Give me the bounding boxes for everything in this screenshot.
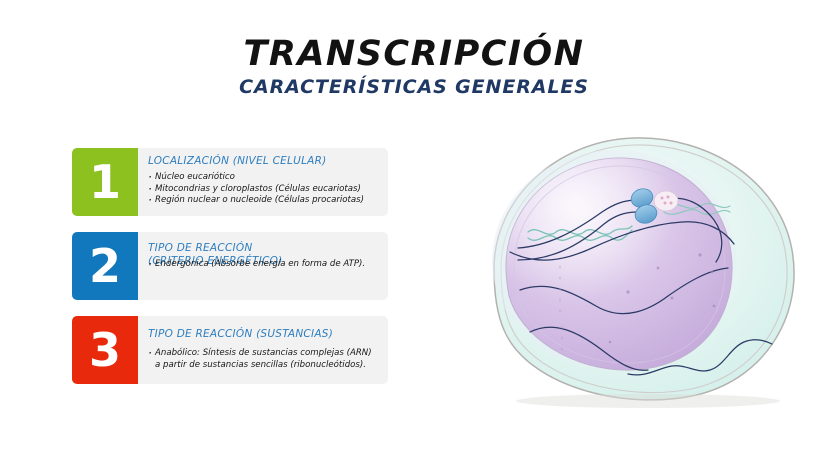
page-subtitle: CARACTERÍSTICAS GENERALES xyxy=(0,77,828,98)
point-bullet: Núcleo eucariótico xyxy=(148,172,380,183)
point-bullet-list: Núcleo eucariótico Mitocondrias y clorop… xyxy=(148,172,380,206)
point-bullet-list: Anabólico: Síntesis de sustancias comple… xyxy=(148,348,380,371)
point-heading: LOCALIZACIÓN (NIVEL CELULAR) xyxy=(148,155,380,168)
point-content: TIPO DE REACCIÓN (CRITERIO ENERGÉTICO) E… xyxy=(148,242,380,270)
point-content: TIPO DE REACCIÓN (SUSTANCIAS) Anabólico:… xyxy=(148,328,380,371)
point-number-badge-1: 1 xyxy=(72,148,138,216)
list-item: 2 TIPO DE REACCIÓN (CRITERIO ENERGÉTICO)… xyxy=(72,232,388,300)
point-bullet: Anabólico: Síntesis de sustancias comple… xyxy=(148,348,380,371)
cell-illustration xyxy=(462,120,810,410)
points-list: 1 LOCALIZACIÓN (NIVEL CELULAR) Núcleo eu… xyxy=(72,148,388,384)
point-bullet: Endergónica (Absorbe energía en forma de… xyxy=(148,259,380,270)
point-number-badge-3: 3 xyxy=(72,316,138,384)
point-number-badge-2: 2 xyxy=(72,232,138,300)
title-block: TRANSCRIPCIÓN CARACTERÍSTICAS GENERALES xyxy=(0,36,828,98)
point-bullet: Mitocondrias y cloroplastos (Células euc… xyxy=(148,184,380,195)
page-title: TRANSCRIPCIÓN xyxy=(0,36,828,73)
point-heading: TIPO DE REACCIÓN (SUSTANCIAS) xyxy=(148,328,380,341)
point-content: LOCALIZACIÓN (NIVEL CELULAR) Núcleo euca… xyxy=(148,155,380,206)
point-bullet: Región nuclear o nucleoide (Células proc… xyxy=(148,195,380,206)
list-item: 3 TIPO DE REACCIÓN (SUSTANCIAS) Anabólic… xyxy=(72,316,388,384)
list-item: 1 LOCALIZACIÓN (NIVEL CELULAR) Núcleo eu… xyxy=(72,148,388,216)
point-bullet-list: Endergónica (Absorbe energía en forma de… xyxy=(148,259,380,270)
cell-shadow xyxy=(516,394,780,408)
